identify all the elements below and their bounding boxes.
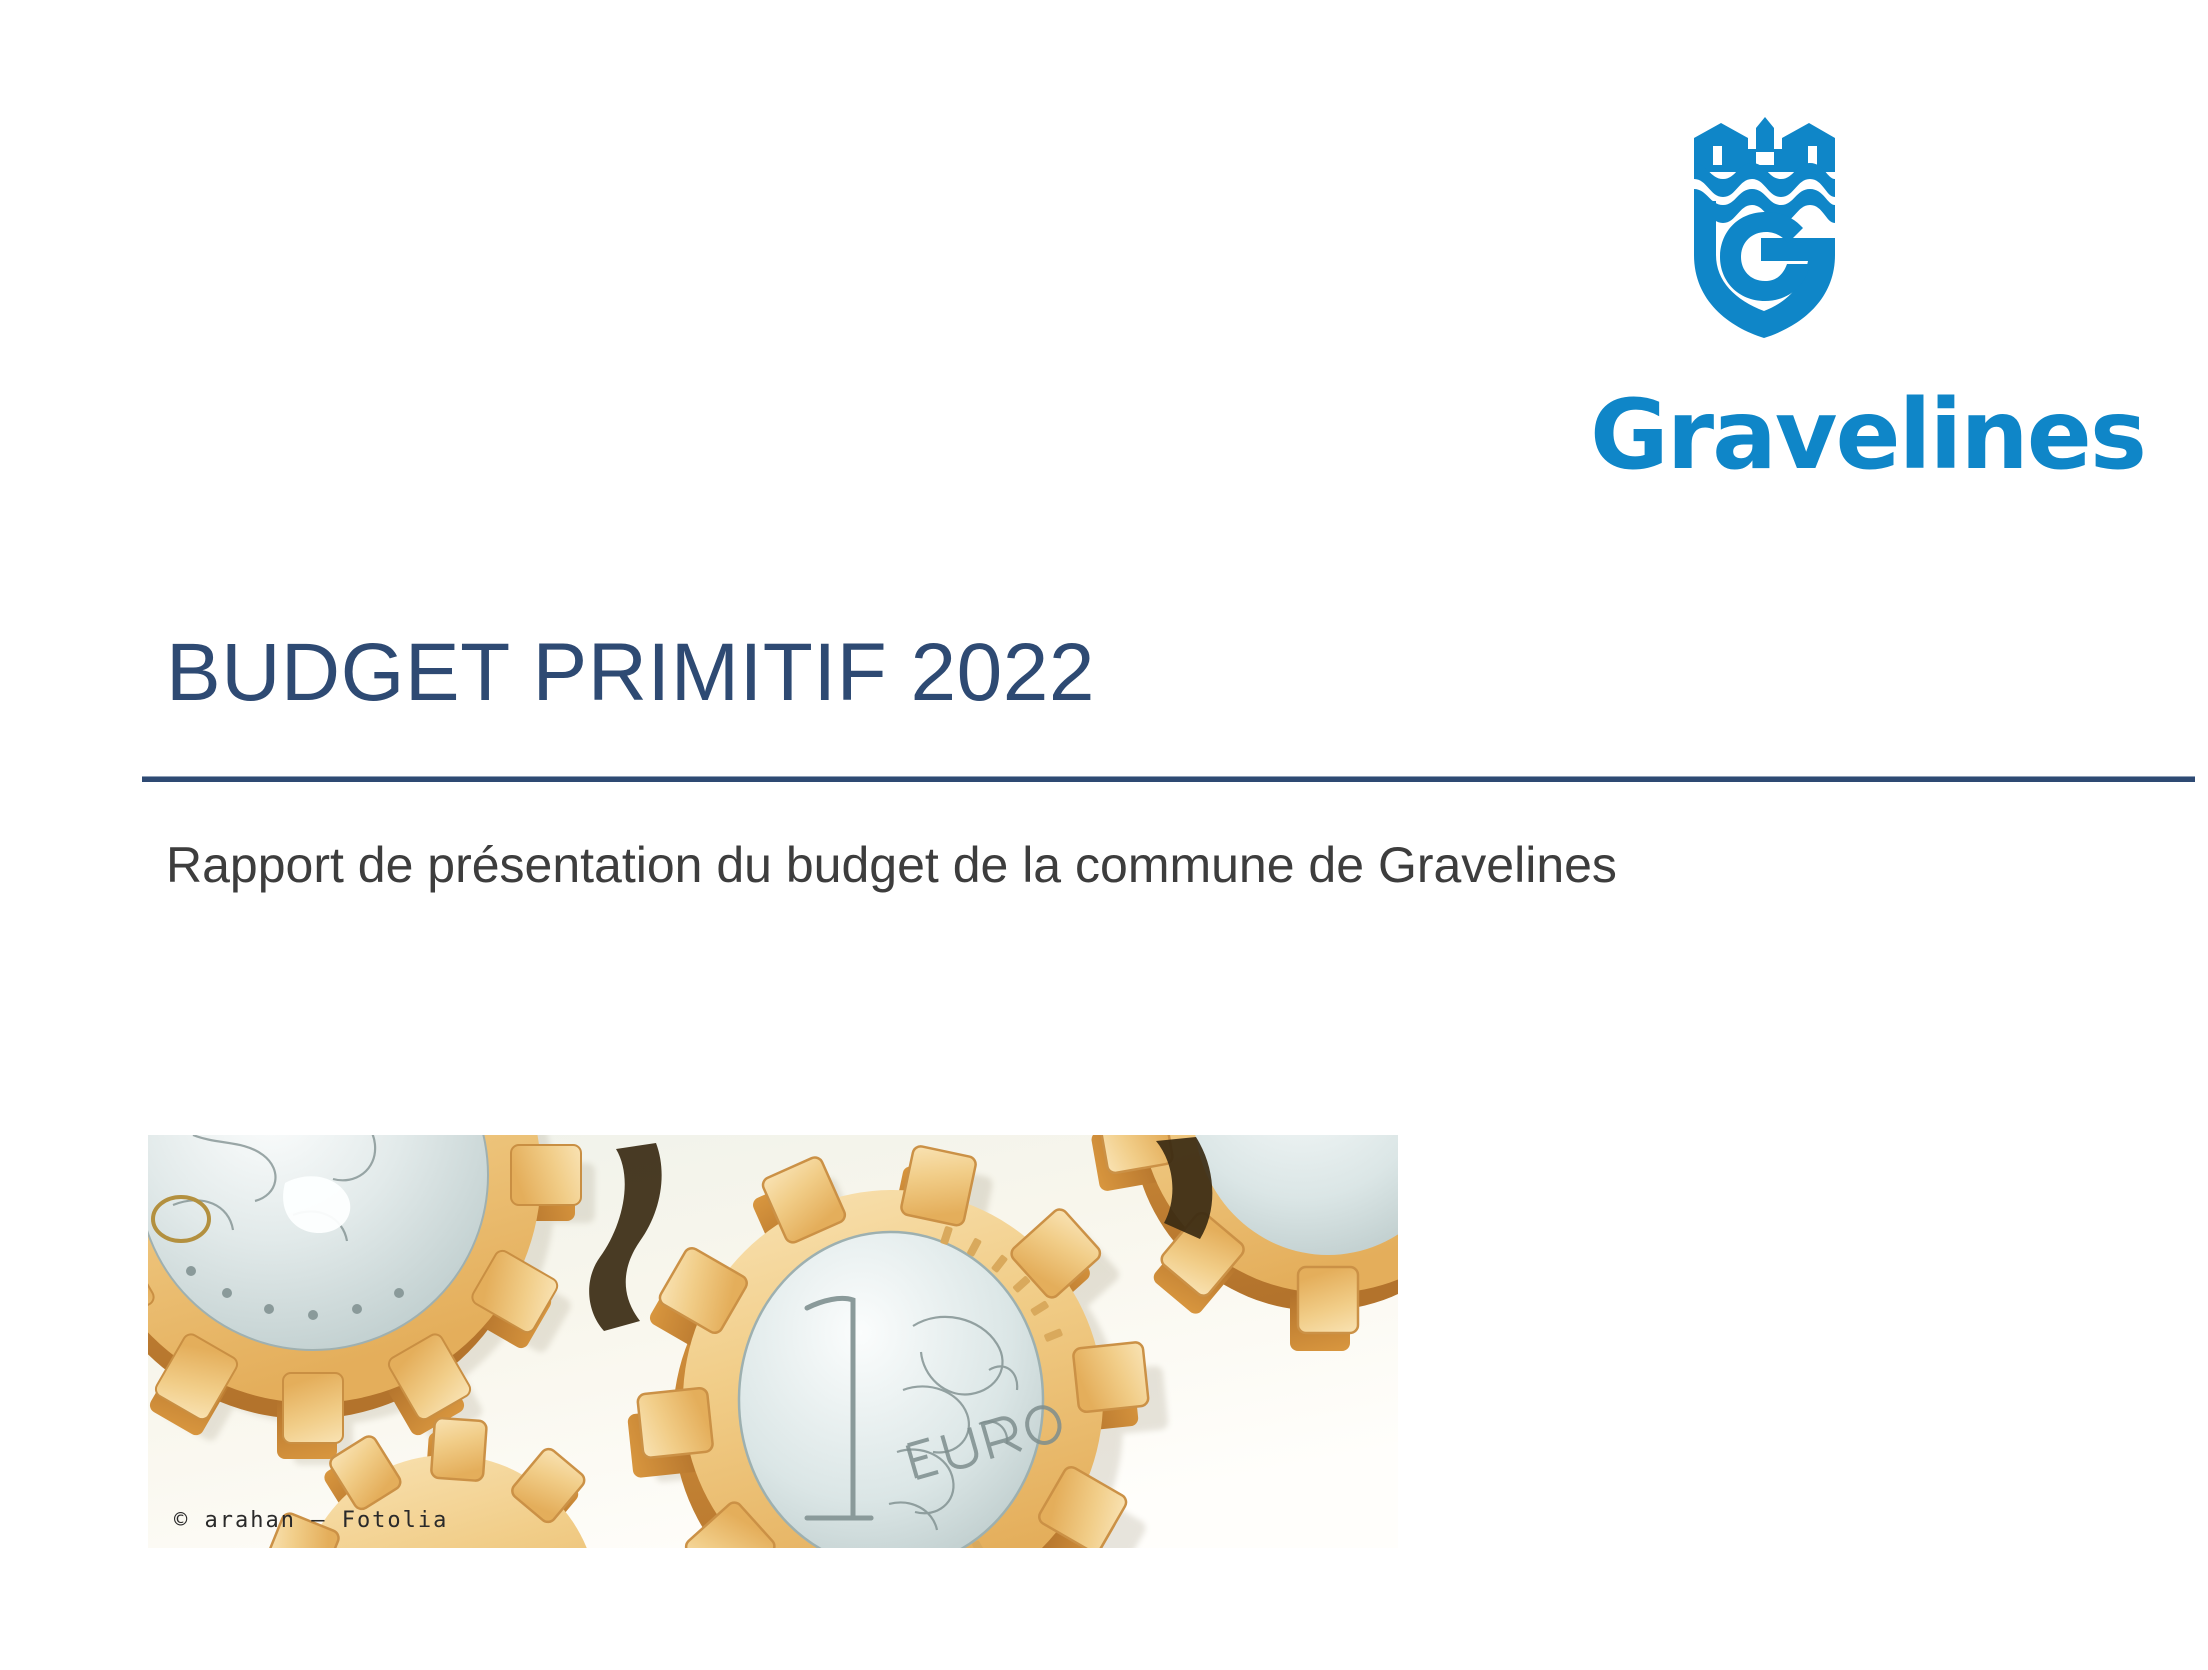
image-credit: © arahan – Fotolia [174,1508,448,1534]
euro-coin-gears-image: © arahan – Fotolia [148,1135,1398,1548]
slide-canvas: Gravelines BUDGET PRIMITIF 2022 Rapport … [0,0,2208,1670]
title-divider-rule [142,776,2195,782]
gravelines-wordmark: Gravelines [1455,375,2145,495]
gravelines-logo: Gravelines [1455,105,2145,525]
gravelines-shield-crest-icon [1677,105,1852,340]
page-title: BUDGET PRIMITIF 2022 [166,625,1095,721]
page-subtitle: Rapport de présentation du budget de la … [166,832,1617,898]
